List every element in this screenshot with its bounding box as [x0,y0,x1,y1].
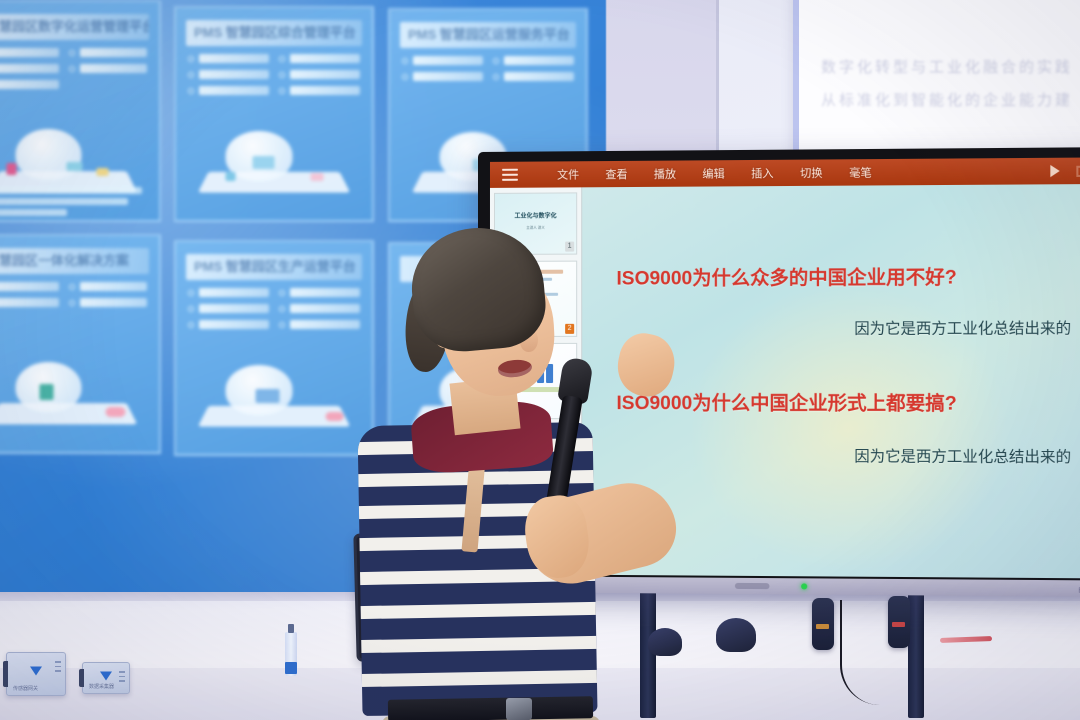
bullet-dot-icon [188,306,194,312]
hamburger-menu-icon[interactable] [502,169,518,181]
video-wall-illustration [0,352,138,438]
slide-line-question-2: ISO9000为什么中国企业形式上都要搞? [616,388,956,416]
video-wall-bullets [176,50,372,99]
room-scene: 智慧园区数字化运营管理平台 [0,0,1080,720]
bullet-dot-icon [279,290,285,296]
video-wall-bullets [0,44,159,93]
video-wall-slide-title: 智慧园区一体化解决方案 [0,248,149,274]
bullet-dot-icon [402,58,408,64]
app-toolbar[interactable]: 文件 查看 播放 编辑 插入 切换 毫笔 [490,157,1080,187]
bullet-dot-icon [493,74,499,80]
water-bottle[interactable] [285,632,297,676]
bullet-dot-icon [69,284,75,290]
whiteboard-line-2: 从标准化到智能化的企业能力建设 [821,89,1069,110]
whiteboard-ink: 数字化转型与工业化融合的实践路径 从标准化到智能化的企业能力建设 [821,56,1069,110]
device-label: 数据采集器 [89,683,114,690]
video-wall-bullets [390,52,586,85]
video-wall-slide-title: PMS 智慧园区综合管理平台 [186,20,362,46]
bullet-dot-icon [188,88,194,94]
play-icon[interactable] [1050,165,1059,177]
slide-line-question-1: ISO9000为什么众多的中国企业用不好? [616,262,956,290]
remote-control-1[interactable] [812,598,834,650]
bullet-dot-icon [279,72,285,78]
camera-mount-clamp[interactable] [716,618,756,652]
presenter-hair [407,222,549,355]
desk-device-left[interactable]: 传感器网关 [6,652,66,696]
bullet-dot-icon [69,66,75,72]
presenter-person [330,228,660,720]
menu-brush[interactable]: 毫笔 [836,164,885,181]
belt-buckle [506,698,532,720]
bullet-dot-icon [69,50,75,56]
brand-triangle-icon [30,666,42,675]
menu-view[interactable]: 查看 [592,166,640,182]
video-wall-footnote [0,187,149,216]
video-wall-slide-title: 智慧园区数字化运营管理平台 [0,14,149,40]
device-label: 传感器网关 [13,685,38,692]
remote-control-2[interactable] [888,596,910,648]
bullet-dot-icon [188,56,194,62]
video-wall-slide-1[interactable]: 智慧园区数字化运营管理平台 [0,0,161,222]
menu-file[interactable]: 文件 [544,166,592,182]
bullet-dot-icon [188,72,194,78]
window-icon[interactable] [1076,165,1080,176]
presenter-belt [388,696,593,720]
display-speaker-right [735,583,770,589]
video-wall-illustration [198,121,351,206]
thumbnail-title: 工业化与数字化 [498,210,573,219]
video-wall-slide-title: PMS 智慧园区运营服务平台 [400,22,576,48]
bullet-dot-icon [279,306,285,312]
brand-triangle-icon [100,671,112,680]
bullet-dot-icon [279,322,285,328]
slide-line-answer-1: 因为它是西方工业化总结出来的 [854,317,1071,339]
toolbar-right-controls[interactable] [1050,165,1080,178]
bullet-dot-icon [69,300,75,306]
menu-edit[interactable]: 编辑 [689,165,738,181]
video-wall-bullets [0,278,159,311]
bullet-dot-icon [188,322,194,328]
bullet-dot-icon [279,88,285,94]
bullet-dot-icon [402,74,408,80]
bullet-dot-icon [493,58,499,64]
stand-leg-right [908,588,924,718]
menu-transition[interactable]: 切换 [787,164,836,181]
menu-insert[interactable]: 插入 [738,165,787,181]
bullet-dot-icon [279,56,285,62]
desk-device-right[interactable]: 数据采集器 [82,662,130,694]
slide-line-answer-2: 因为它是西方工业化总结出来的 [854,445,1071,467]
power-led-icon [801,583,807,589]
video-wall-illustration [198,355,351,440]
video-wall-slide-4[interactable]: 智慧园区一体化解决方案 [0,234,161,454]
whiteboard-line-1: 数字化转型与工业化融合的实践路径 [821,56,1069,77]
video-wall-slide-2[interactable]: PMS 智慧园区综合管理平台 [174,6,374,222]
bullet-dot-icon [188,290,194,296]
menu-play[interactable]: 播放 [641,165,690,181]
